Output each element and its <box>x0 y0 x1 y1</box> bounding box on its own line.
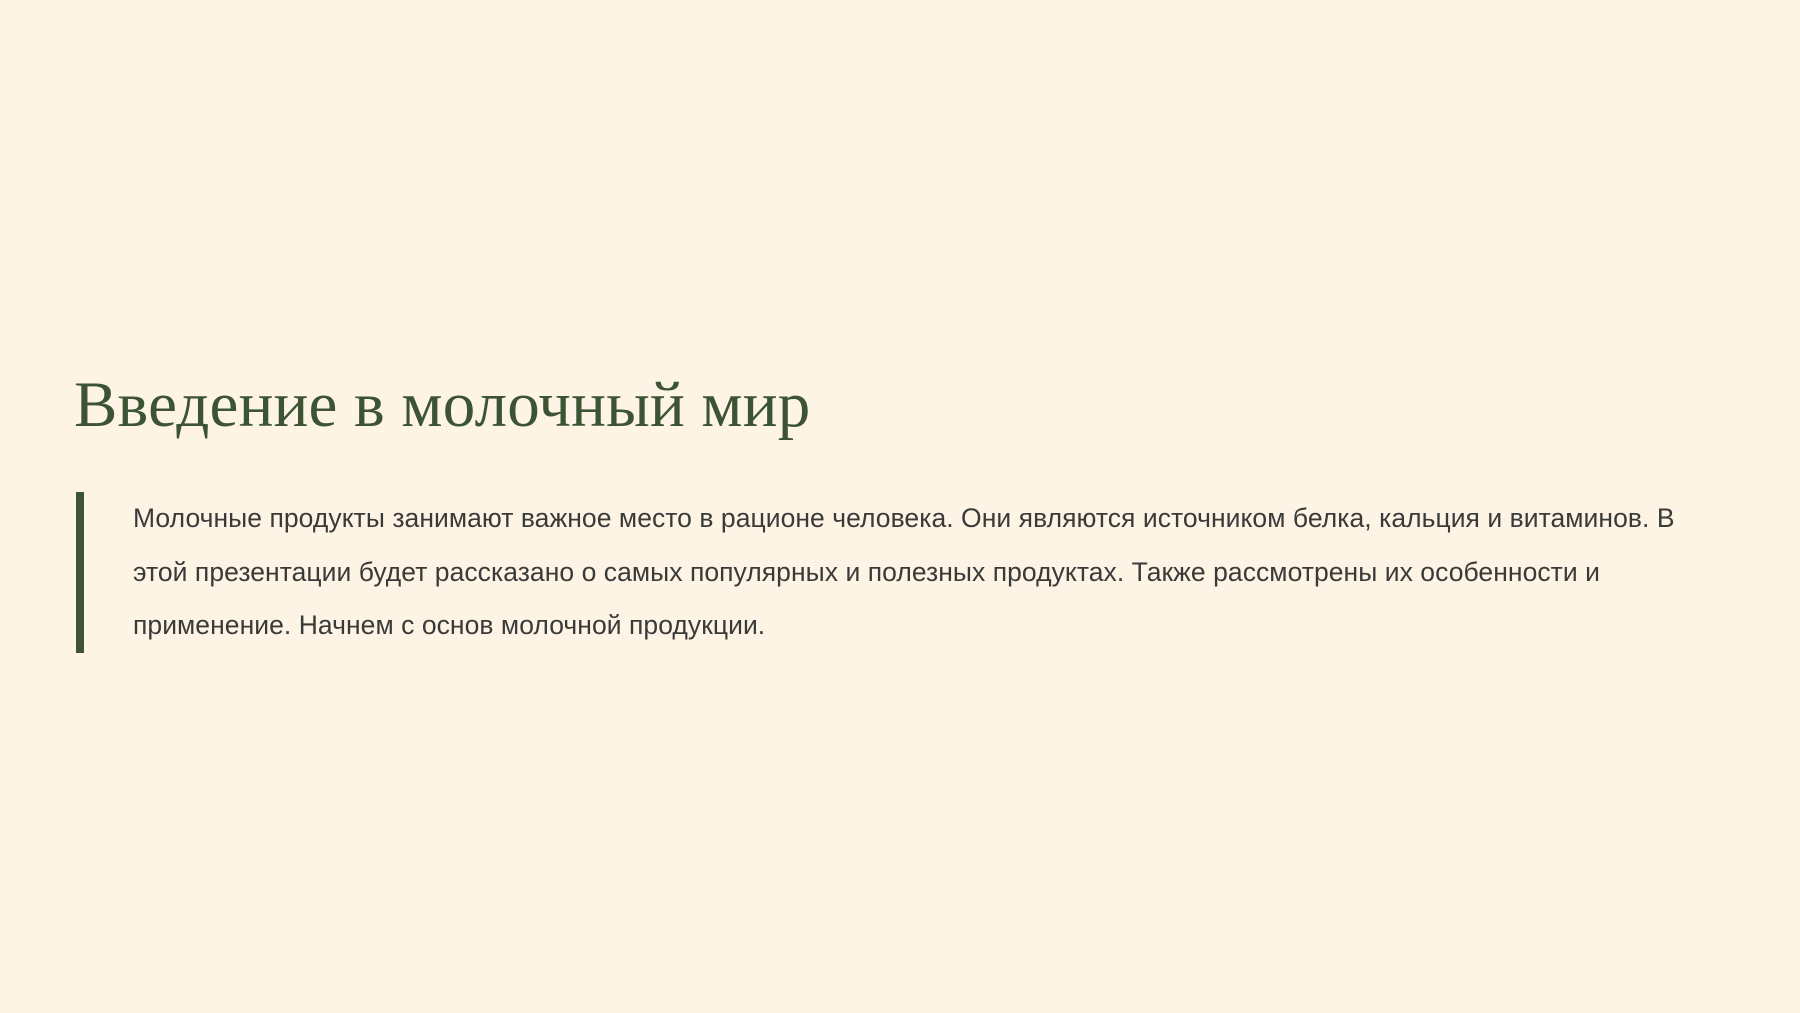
page-title: Введение в молочный мир <box>74 371 810 439</box>
accent-bar <box>76 492 84 653</box>
slide-canvas: Введение в молочный мир Молочные продукт… <box>0 0 1800 1013</box>
body-quote-block: Молочные продукты занимают важное место … <box>76 492 1736 653</box>
body-paragraph: Молочные продукты занимают важное место … <box>84 492 1713 653</box>
